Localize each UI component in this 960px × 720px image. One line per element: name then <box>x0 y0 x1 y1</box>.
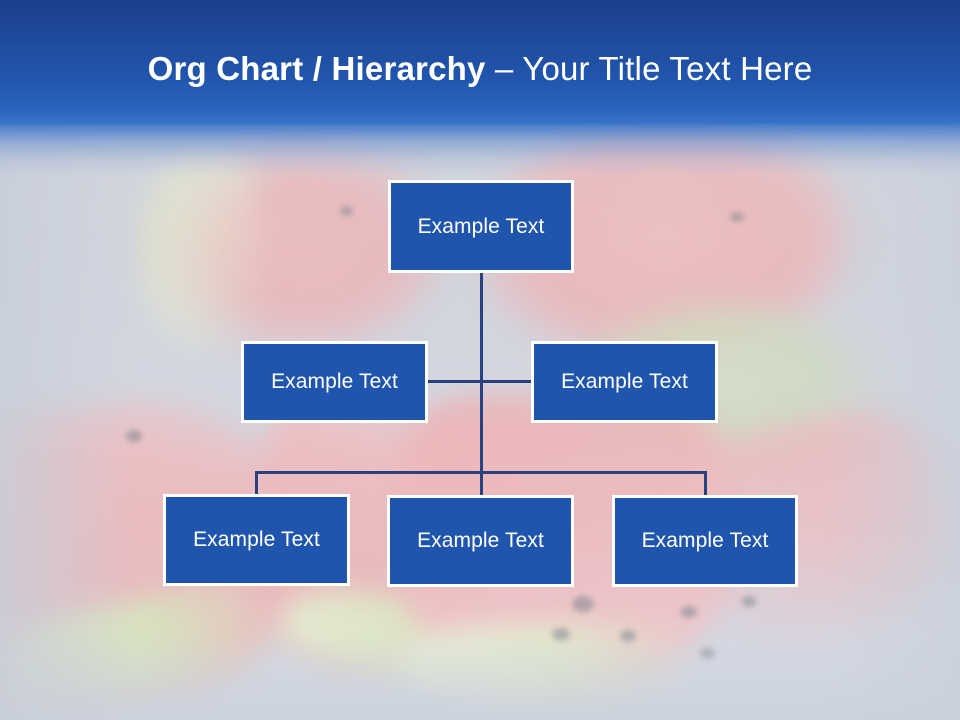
connector-to-mid-left <box>428 380 482 383</box>
connector-drop-leaf-1 <box>255 471 258 496</box>
org-node-label: Example Text <box>561 369 688 395</box>
org-node-leaf-3[interactable]: Example Text <box>612 495 798 587</box>
org-node-mid-left[interactable]: Example Text <box>241 341 428 423</box>
org-node-leaf-2[interactable]: Example Text <box>387 495 574 587</box>
connector-root-trunk <box>480 273 483 481</box>
page-title-bold-part: Org Chart / Hierarchy <box>148 50 486 87</box>
org-node-mid-right[interactable]: Example Text <box>531 341 718 423</box>
page-title-separator: – <box>486 50 523 87</box>
slide-canvas: Org Chart / Hierarchy – Your Title Text … <box>0 0 960 720</box>
connector-to-mid-right <box>480 380 533 383</box>
org-node-label: Example Text <box>642 528 769 554</box>
connector-drop-leaf-3 <box>704 471 707 497</box>
org-node-label: Example Text <box>418 214 545 240</box>
org-node-root[interactable]: Example Text <box>388 180 574 273</box>
org-node-label: Example Text <box>417 528 544 554</box>
connector-drop-leaf-2 <box>480 471 483 497</box>
org-node-label: Example Text <box>193 527 320 553</box>
page-title: Org Chart / Hierarchy – Your Title Text … <box>0 49 960 89</box>
org-node-leaf-1[interactable]: Example Text <box>163 494 350 586</box>
org-node-label: Example Text <box>271 369 398 395</box>
title-band-fade <box>0 124 960 182</box>
page-title-regular-part: Your Title Text Here <box>522 50 812 87</box>
